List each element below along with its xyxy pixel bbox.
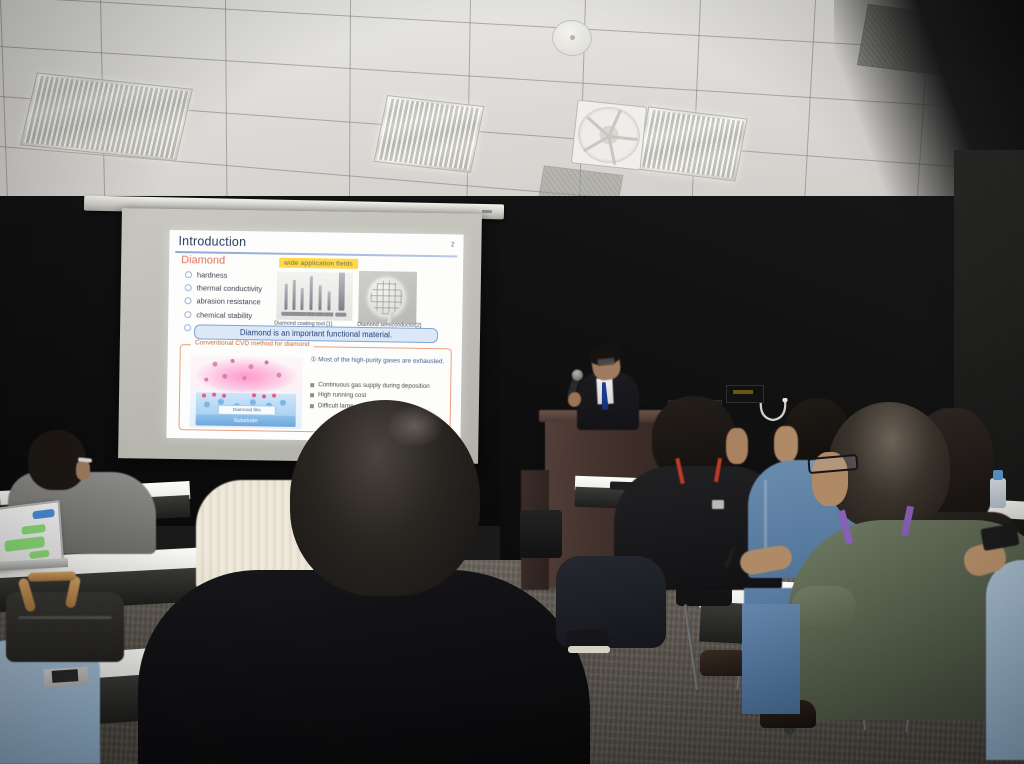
cvd-legend-label: Conventional CVD method for diamond bbox=[191, 339, 314, 348]
cvd-diagram: Diamond film Substrate bbox=[190, 355, 303, 429]
ceiling bbox=[0, 0, 1024, 215]
diamond-semiconductor-photo bbox=[358, 271, 417, 324]
chat-bubble-outgoing bbox=[32, 509, 54, 520]
table-item bbox=[610, 481, 644, 490]
substrate-label: Substrate bbox=[196, 414, 296, 427]
chat-bubble-incoming bbox=[4, 536, 45, 552]
bullet-label: Continuous gas supply during deposition bbox=[318, 381, 430, 390]
shoe-sole bbox=[568, 646, 610, 653]
square-bullet-icon bbox=[310, 394, 314, 398]
diamond-coating-tool-photo bbox=[276, 272, 353, 321]
wall-plate-label bbox=[733, 390, 753, 394]
list-item: Continuous gas supply during deposition bbox=[310, 381, 460, 390]
list-item: chemical stability bbox=[184, 310, 261, 320]
wall-plate bbox=[726, 385, 764, 403]
badge bbox=[712, 500, 724, 509]
slide-title: Introduction bbox=[178, 234, 246, 249]
chat-bubble-incoming bbox=[21, 524, 45, 535]
presentation-room-photo: Introduction 2 Diamond hardness thermal … bbox=[0, 0, 1024, 764]
ceiling-light-panel bbox=[20, 72, 193, 161]
ceiling-light-panel bbox=[636, 106, 747, 181]
circle-bullet-icon bbox=[184, 324, 191, 331]
circle-bullet-icon bbox=[184, 311, 191, 318]
bullet-label: hardness bbox=[197, 270, 228, 279]
ceiling-light-panel bbox=[374, 95, 485, 173]
bullet-label: abrasion resistance bbox=[196, 297, 260, 307]
water-bottle bbox=[990, 478, 1006, 508]
plasma-region bbox=[196, 357, 297, 393]
bullet-label: thermal conductivity bbox=[197, 284, 262, 294]
highlight-badge: wide application fields bbox=[279, 258, 358, 269]
arm bbox=[792, 586, 856, 626]
leather-handle-bag bbox=[6, 592, 124, 662]
list-item: hardness bbox=[185, 270, 262, 280]
screen-pull-knob[interactable] bbox=[482, 210, 492, 213]
circle-bullet-icon bbox=[185, 284, 192, 291]
slide-section-heading: Diamond bbox=[181, 254, 225, 267]
table-item-dark bbox=[52, 669, 79, 683]
chair-back[interactable] bbox=[520, 510, 562, 558]
slide-page-number: 2 bbox=[451, 242, 454, 248]
circle-bullet-icon bbox=[185, 271, 192, 278]
square-bullet-icon bbox=[310, 383, 314, 387]
bullet-label: High running cost bbox=[318, 392, 366, 400]
circle-bullet-icon bbox=[184, 298, 191, 305]
chat-bubble-incoming bbox=[29, 550, 49, 559]
ceiling-fan-vent bbox=[571, 100, 647, 171]
jeans-leg bbox=[742, 604, 800, 714]
smoke-detector-icon bbox=[550, 18, 594, 58]
callout-label: Diamond is an important functional mater… bbox=[240, 328, 392, 339]
list-item: thermal conductivity bbox=[185, 283, 262, 293]
list-item: abrasion resistance bbox=[184, 297, 261, 307]
bottle-cap bbox=[993, 470, 1003, 480]
square-bullet-icon bbox=[310, 404, 314, 408]
cvd-note: ① Most of the high-purity gases are exha… bbox=[311, 355, 459, 367]
bullet-label: chemical stability bbox=[196, 310, 252, 320]
